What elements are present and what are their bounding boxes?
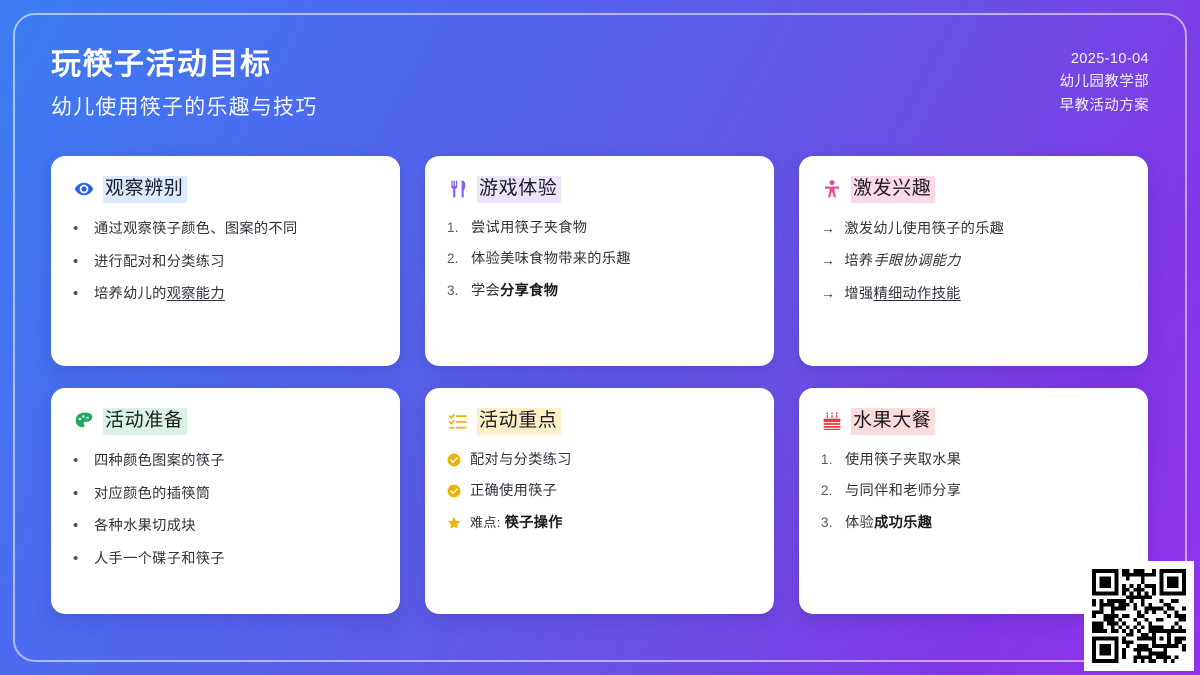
list-marker: •	[73, 218, 85, 240]
card-grid: 观察辨别•通过观察筷子颜色、图案的不同•进行配对和分类练习•培养幼儿的观察能力游…	[51, 156, 1149, 614]
title-block: 玩筷子活动目标 幼儿使用筷子的乐趣与技巧	[51, 40, 317, 121]
list-marker: •	[73, 483, 85, 505]
list-item-text: 培养手眼协调能力	[844, 251, 960, 272]
meta-block: 2025-10-04 幼儿园教学部 早教活动方案	[1060, 40, 1149, 118]
list-item: •各种水果切成块	[73, 515, 378, 537]
card-title: 活动准备	[103, 408, 187, 435]
list-marker: •	[73, 548, 85, 570]
card-title: 水果大餐	[851, 408, 935, 435]
list-item-text: 进行配对和分类练习	[94, 252, 225, 273]
list-item-text: 体验美味食物带来的乐趣	[471, 249, 631, 270]
star-icon	[447, 516, 461, 530]
list-item: 1.使用筷子夹取水果	[821, 450, 1126, 471]
card-observe: 观察辨别•通过观察筷子颜色、图案的不同•进行配对和分类练习•培养幼儿的观察能力	[51, 156, 400, 366]
card-prepare: 活动准备•四种颜色图案的筷子•对应颜色的插筷筒•各种水果切成块•人手一个碟子和筷…	[51, 388, 400, 614]
list-item: →增强精细动作技能	[821, 283, 1126, 305]
card-header: 游戏体验	[447, 176, 752, 203]
check-circle-icon	[447, 453, 461, 467]
list-marker: →	[821, 218, 835, 238]
card-list: •通过观察筷子颜色、图案的不同•进行配对和分类练习•培养幼儿的观察能力	[73, 218, 378, 305]
card-list: →激发幼儿使用筷子的乐趣→培养手眼协调能力→增强精细动作技能	[821, 218, 1126, 305]
card-header: 水果大餐	[821, 408, 1126, 435]
child-icon	[821, 179, 842, 200]
list-item-text: 人手一个碟子和筷子	[94, 549, 225, 570]
card-list: 配对与分类练习正确使用筷子难点: 筷子操作	[447, 450, 752, 534]
list-item-text: 培养幼儿的观察能力	[94, 284, 225, 305]
list-item-text: 与同伴和老师分享	[845, 481, 961, 502]
list-item-text: 学会分享食物	[471, 281, 558, 302]
cake-icon	[821, 411, 842, 432]
list-item: •四种颜色图案的筷子	[73, 450, 378, 472]
card-interest: 激发兴趣→激发幼儿使用筷子的乐趣→培养手眼协调能力→增强精细动作技能	[799, 156, 1148, 366]
list-item-text: 四种颜色图案的筷子	[94, 451, 225, 472]
list-item-text: 各种水果切成块	[94, 516, 196, 537]
slide-header: 玩筷子活动目标 幼儿使用筷子的乐趣与技巧 2025-10-04 幼儿园教学部 早…	[51, 40, 1149, 121]
meta-department: 幼儿园教学部	[1060, 71, 1149, 94]
list-marker: 2.	[821, 481, 836, 500]
card-list: 1.尝试用筷子夹食物2.体验美味食物带来的乐趣3.学会分享食物	[447, 218, 752, 302]
meta-date: 2025-10-04	[1060, 48, 1149, 71]
list-item-text: 使用筷子夹取水果	[845, 450, 961, 471]
card-title: 游戏体验	[477, 176, 561, 203]
list-item: •人手一个碟子和筷子	[73, 548, 378, 570]
check-circle-icon	[447, 484, 461, 498]
list-item-text: 增强精细动作技能	[844, 284, 960, 305]
card-title: 观察辨别	[103, 176, 187, 203]
list-item-text: 通过观察筷子颜色、图案的不同	[94, 219, 298, 240]
card-play: 游戏体验1.尝试用筷子夹食物2.体验美味食物带来的乐趣3.学会分享食物	[425, 156, 774, 366]
palette-icon	[73, 411, 94, 432]
list-item-text: 正确使用筷子	[470, 481, 557, 502]
eye-icon	[73, 179, 94, 200]
card-title: 激发兴趣	[851, 176, 935, 203]
list-item-text: 尝试用筷子夹食物	[471, 218, 587, 239]
card-list: •四种颜色图案的筷子•对应颜色的插筷筒•各种水果切成块•人手一个碟子和筷子	[73, 450, 378, 570]
card-title: 活动重点	[477, 408, 561, 435]
list-item-text: 体验成功乐趣	[845, 513, 932, 534]
list-item-text: 难点: 筷子操作	[470, 513, 563, 534]
slide-root: 玩筷子活动目标 幼儿使用筷子的乐趣与技巧 2025-10-04 幼儿园教学部 早…	[0, 0, 1200, 675]
list-marker: →	[821, 283, 835, 303]
card-header: 活动重点	[447, 408, 752, 435]
list-marker: •	[73, 515, 85, 537]
list-item: 2.与同伴和老师分享	[821, 481, 1126, 502]
list-item-text: 对应颜色的插筷筒	[94, 484, 210, 505]
list-item: •培养幼儿的观察能力	[73, 283, 378, 305]
list-marker: •	[73, 283, 85, 305]
card-list: 1.使用筷子夹取水果2.与同伴和老师分享3.体验成功乐趣	[821, 450, 1126, 534]
checklist-icon	[447, 411, 468, 432]
card-focus: 活动重点配对与分类练习正确使用筷子难点: 筷子操作	[425, 388, 774, 614]
qr-code[interactable]	[1084, 561, 1194, 671]
list-marker: 3.	[447, 281, 462, 300]
list-marker: 1.	[821, 450, 836, 469]
list-item: 2.体验美味食物带来的乐趣	[447, 249, 752, 270]
list-item-text: 配对与分类练习	[470, 450, 572, 471]
page-title: 玩筷子活动目标	[51, 46, 317, 84]
fork-knife-icon	[447, 179, 468, 200]
list-item: 3.体验成功乐趣	[821, 513, 1126, 534]
list-marker: •	[73, 251, 85, 273]
list-marker: •	[73, 450, 85, 472]
list-item: →激发幼儿使用筷子的乐趣	[821, 218, 1126, 240]
card-header: 观察辨别	[73, 176, 378, 203]
list-item: •通过观察筷子颜色、图案的不同	[73, 218, 378, 240]
list-item: 配对与分类练习	[447, 450, 752, 471]
list-item-text: 激发幼儿使用筷子的乐趣	[844, 219, 1004, 240]
list-item: 难点: 筷子操作	[447, 513, 752, 534]
list-marker: 3.	[821, 513, 836, 532]
meta-doc-type: 早教活动方案	[1060, 95, 1149, 118]
list-item: •对应颜色的插筷筒	[73, 483, 378, 505]
list-marker: →	[821, 250, 835, 270]
list-item: 正确使用筷子	[447, 481, 752, 502]
card-header: 激发兴趣	[821, 176, 1126, 203]
page-subtitle: 幼儿使用筷子的乐趣与技巧	[51, 94, 317, 121]
list-item: •进行配对和分类练习	[73, 251, 378, 273]
card-header: 活动准备	[73, 408, 378, 435]
list-item: 1.尝试用筷子夹食物	[447, 218, 752, 239]
list-marker: 1.	[447, 218, 462, 237]
list-marker: 2.	[447, 249, 462, 268]
list-item: →培养手眼协调能力	[821, 250, 1126, 272]
list-item: 3.学会分享食物	[447, 281, 752, 302]
